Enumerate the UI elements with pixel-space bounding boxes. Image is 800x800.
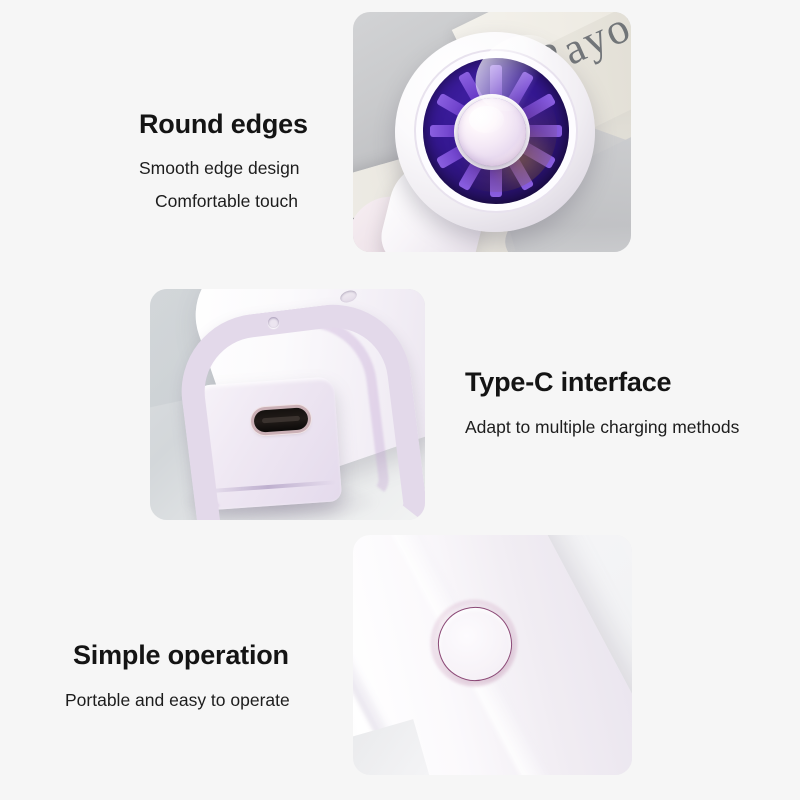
fan-head-photo: Rayon nia bbox=[353, 12, 631, 252]
power-button-photo bbox=[353, 535, 632, 775]
section-text-round-edges: Round edges Smooth edge design Comfortab… bbox=[139, 110, 308, 212]
subline-smooth-edge-design: Smooth edge design bbox=[139, 158, 308, 180]
subline-comfortable-touch: Comfortable touch bbox=[155, 191, 308, 213]
headline-type-c-interface: Type-C interface bbox=[465, 368, 739, 398]
subline-charging-methods: Adapt to multiple charging methods bbox=[465, 417, 739, 439]
loop-screw-dot bbox=[268, 317, 279, 328]
section-text-type-c: Type-C interface Adapt to multiple charg… bbox=[465, 368, 739, 439]
headline-round-edges: Round edges bbox=[139, 110, 308, 140]
usb-c-port bbox=[253, 407, 308, 433]
headline-simple-operation: Simple operation bbox=[73, 641, 290, 671]
product-feature-infographic: Rayon nia Round edges Smooth edge design… bbox=[0, 0, 800, 800]
type-c-port-photo bbox=[150, 289, 425, 520]
subline-portable-easy: Portable and easy to operate bbox=[65, 690, 290, 712]
section-text-simple-operation: Simple operation Portable and easy to op… bbox=[73, 641, 290, 712]
fan-hub-cap bbox=[458, 98, 526, 166]
